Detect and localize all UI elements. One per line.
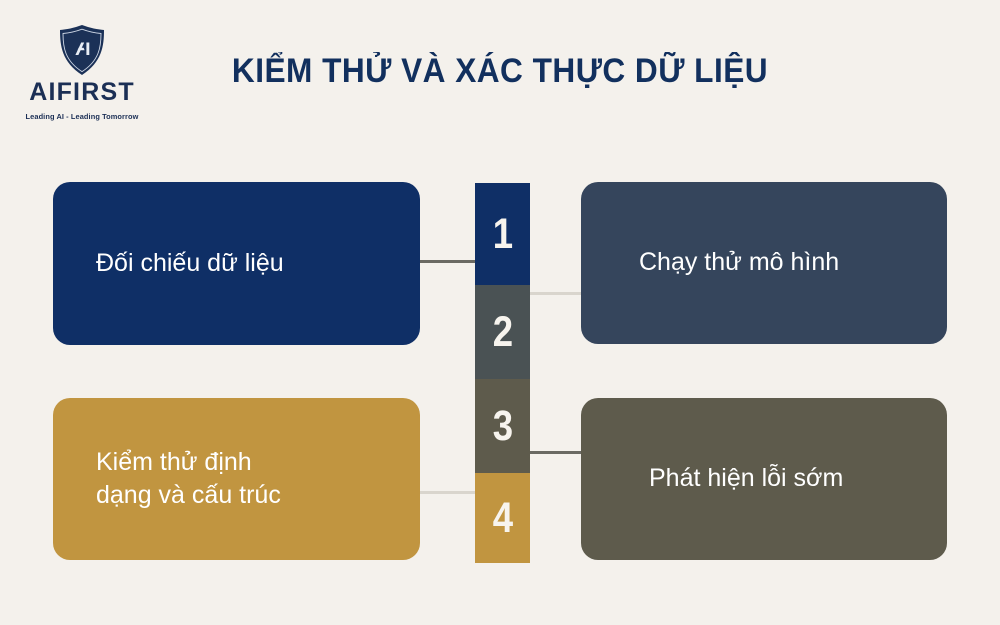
logo-wordmark: AIFIRST (29, 80, 135, 105)
step-number-segment-4: 4 (475, 473, 530, 563)
step-number-segment-2: 2 (475, 285, 530, 379)
step-number-1: 1 (492, 213, 512, 256)
step-number-3: 3 (492, 405, 512, 448)
step-label-3: Kiểm thử định dạng và cấu trúc (53, 446, 288, 513)
shield-ai-icon (58, 24, 106, 76)
step-label-4: Phát hiện lỗi sớm (581, 462, 843, 495)
step-number-4: 4 (492, 497, 512, 540)
step-number-2: 2 (492, 311, 512, 354)
step-number-segment-3: 3 (475, 379, 530, 473)
step-box-4[interactable]: Phát hiện lỗi sớm (581, 398, 947, 560)
step-label-1: Đối chiếu dữ liệu (53, 247, 284, 280)
step-box-1[interactable]: Đối chiếu dữ liệu (53, 182, 420, 345)
page-title: KIỂM THỬ VÀ XÁC THỰC DỮ LIỆU (202, 52, 797, 91)
step-label-2: Chạy thử mô hình (581, 246, 839, 279)
logo-tagline: Leading AI - Leading Tomorrow (26, 112, 139, 121)
connector-step-2 (529, 292, 583, 295)
step-box-2[interactable]: Chạy thử mô hình (581, 182, 947, 344)
step-number-column: 1 2 3 4 (475, 183, 530, 563)
connector-step-1 (420, 260, 476, 263)
brand-logo: AIFIRST Leading AI - Leading Tomorrow (16, 24, 148, 134)
connector-step-3 (529, 451, 583, 454)
step-number-segment-1: 1 (475, 183, 530, 285)
infographic-canvas: AIFIRST Leading AI - Leading Tomorrow KI… (0, 0, 1000, 625)
step-box-3[interactable]: Kiểm thử định dạng và cấu trúc (53, 398, 420, 560)
connector-step-4 (420, 491, 476, 494)
